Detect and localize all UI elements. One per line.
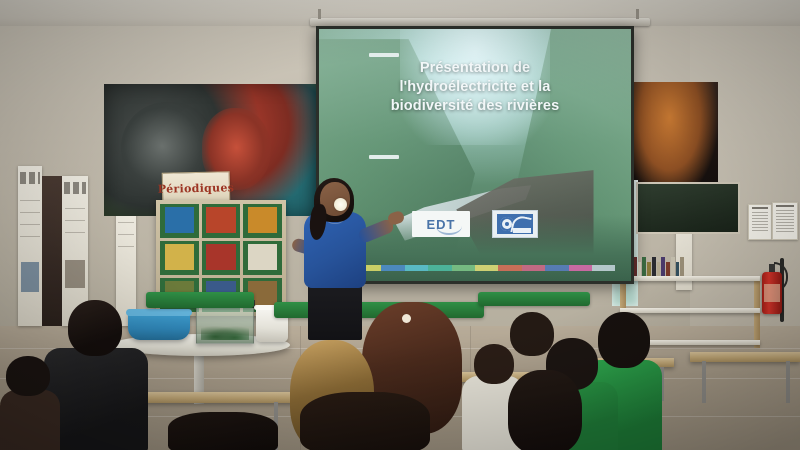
- magazine-4[interactable]: [160, 241, 199, 275]
- book-spine: [642, 257, 646, 276]
- magazine-cover: [248, 207, 277, 233]
- projection-screen-roller[interactable]: [310, 18, 650, 26]
- color-bar-segment-8: [498, 265, 521, 271]
- student-dark-bun: [478, 370, 606, 450]
- magazine-cover: [165, 244, 194, 270]
- desk-far-right: [690, 352, 800, 362]
- water-utility-logo: [492, 210, 538, 238]
- book-spine: [666, 262, 670, 276]
- magazine-6[interactable]: [243, 241, 282, 275]
- color-bar-segment-10: [545, 265, 568, 271]
- slide-title-line-1: Présentation de: [338, 59, 613, 78]
- slide-title: Présentation de l'hydroélectricite et la…: [338, 59, 613, 116]
- wall-notice-left: [748, 204, 772, 240]
- book-spine: [657, 262, 661, 276]
- books-row: [628, 252, 684, 276]
- book-spine: [680, 257, 684, 276]
- chalkboard: [636, 182, 740, 234]
- student-far-left: [0, 356, 60, 450]
- aquarium-tank[interactable]: [196, 306, 254, 344]
- slide-dash-top: [369, 53, 399, 57]
- color-bar-segment-5: [428, 265, 451, 271]
- book-spine: [676, 262, 680, 276]
- color-bar-segment-4: [405, 265, 428, 271]
- slide-title-line-3: biodiversité des rivières: [338, 97, 613, 116]
- color-bar-segment-12: [592, 265, 615, 271]
- hair-clip-icon: [402, 314, 411, 323]
- tiare-flower-icon: [334, 198, 347, 211]
- book-spine: [661, 257, 665, 276]
- book-spine: [652, 257, 656, 276]
- magazine-cover: [248, 244, 277, 270]
- color-bar-segment-7: [475, 265, 498, 271]
- magazine-2[interactable]: [202, 204, 241, 238]
- color-bar-segment-3: [381, 265, 404, 271]
- color-bar-segment-6: [452, 265, 475, 271]
- book-spine: [671, 257, 675, 276]
- green-bench-right: [478, 292, 590, 306]
- color-bar-segment-9: [522, 265, 545, 271]
- classroom-presentation-scene: Périodiques Présent: [0, 0, 800, 450]
- green-bench-left: [146, 292, 254, 308]
- slide-dash-bottom: [369, 155, 399, 159]
- student-foreground-center: [300, 392, 430, 450]
- fire-extinguisher[interactable]: [762, 262, 782, 314]
- edt-logo: EDT: [412, 211, 470, 237]
- magazine-cover: [165, 207, 194, 233]
- book-spine: [638, 262, 642, 276]
- slide-title-line-2: l'hydroélectricite et la: [338, 78, 613, 97]
- wall-notice-right: [772, 202, 798, 240]
- periodiques-label: Périodiques: [158, 181, 235, 196]
- color-bar-segment-11: [569, 265, 592, 271]
- book-spine: [647, 262, 651, 276]
- magazine-1[interactable]: [160, 204, 199, 238]
- magazine-3[interactable]: [243, 204, 282, 238]
- magazine-cover: [206, 207, 235, 233]
- magazine-5[interactable]: [202, 241, 241, 275]
- student-foreground-left: [168, 412, 278, 450]
- magazine-cover: [206, 244, 235, 270]
